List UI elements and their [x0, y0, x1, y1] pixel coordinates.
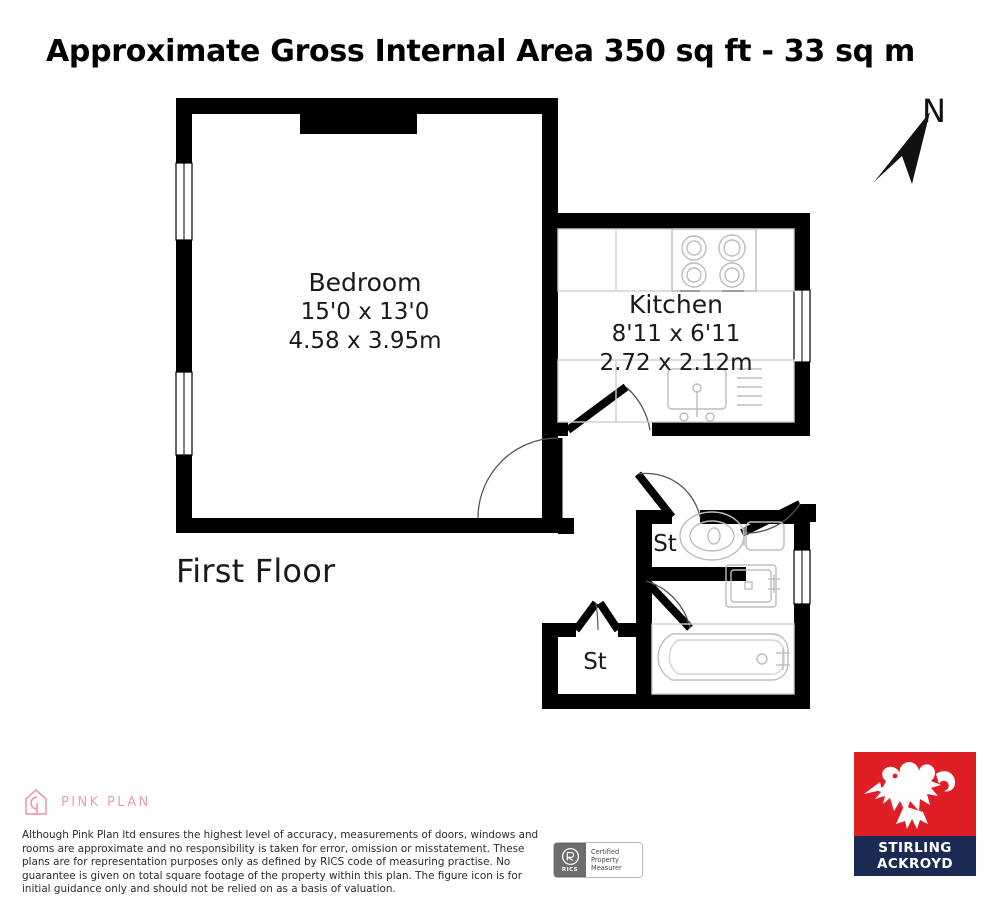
wall-nub-bedroom-se: [558, 518, 574, 534]
wall-bedroom-alcove: [300, 98, 417, 134]
room-name-kitchen: Kitchen: [562, 290, 790, 320]
wall-plan-bottom: [542, 694, 810, 709]
north-letter: N: [922, 92, 946, 130]
wall-right-a: [794, 213, 810, 290]
room-label-storage-lower: St: [567, 649, 623, 675]
room-dim-metric-bedroom: 4.58 x 3.95m: [197, 327, 533, 356]
disclaimer-text: Although Pink Plan ltd ensures the highe…: [22, 829, 542, 897]
wall-bedroom-left-b: [176, 240, 192, 372]
agent-name-line-1: STIRLING: [878, 840, 952, 856]
window-bedroom-left-lower: [176, 372, 192, 455]
rics-line-1: Certified: [591, 848, 642, 856]
door-st-lower: [576, 603, 618, 630]
agent-logo-bottom-panel: STIRLING ACKROYD: [854, 836, 976, 876]
window-bedroom-left-upper: [176, 163, 192, 240]
wall-right-b: [794, 362, 810, 429]
agent-name-line-2: ACKROYD: [877, 856, 953, 872]
window-kitchen-right: [794, 290, 810, 362]
griffin-icon: [858, 754, 972, 836]
rics-mark-text: RICS: [562, 867, 578, 873]
wall-bedroom-top-right: [417, 98, 558, 114]
wall-bedroom-bottom: [176, 518, 566, 533]
room-label-storage-upper: St: [637, 531, 693, 557]
walls-group: [176, 98, 816, 709]
north-indicator: N: [872, 96, 978, 196]
wall-st-upper-bottom: [636, 567, 746, 581]
floor-name-label: First Floor: [176, 552, 335, 590]
rics-seal-icon: [561, 847, 580, 866]
floorplan-page: Approximate Gross Internal Area 350 sq f…: [0, 0, 993, 900]
kitchen-worktop-top: [558, 229, 794, 291]
room-dim-metric-kitchen: 2.72 x 2.12m: [562, 349, 790, 378]
agent-logo: STIRLING ACKROYD: [854, 752, 976, 876]
hob-icon: [672, 229, 756, 291]
pink-plan-house-icon: [22, 787, 50, 817]
room-dim-imperial-kitchen: 8'11 x 6'11: [562, 320, 790, 349]
wall-kitchen-bottom-right: [652, 422, 810, 436]
room-label-bedroom: Bedroom 15'0 x 13'0 4.58 x 3.95m: [197, 268, 533, 356]
room-name-bedroom: Bedroom: [197, 268, 533, 298]
wall-right-d: [794, 604, 810, 709]
wall-bedroom-top-left: [176, 98, 300, 114]
wall-bedroom-right-upper: [542, 98, 558, 224]
wall-st-lower-top-right: [618, 623, 652, 637]
wall-bedroom-left-a: [176, 98, 192, 163]
rics-certification-badge: RICS Certified Property Measurer: [553, 842, 643, 878]
page-title: Approximate Gross Internal Area 350 sq f…: [46, 34, 966, 69]
wall-kitchen-bottom-left: [542, 422, 568, 436]
floorplan-drawing: [0, 70, 993, 730]
pink-plan-logo: PINK PLAN: [22, 787, 151, 817]
room-dim-imperial-bedroom: 15'0 x 13'0: [197, 298, 533, 327]
bathtub-icon: [652, 624, 794, 694]
rics-badge-text: Certified Property Measurer: [586, 843, 642, 877]
wall-kitchen-top: [542, 213, 810, 229]
rics-line-2: Property: [591, 856, 642, 864]
rics-line-3: Measurer: [591, 864, 642, 872]
door-bathroom: [646, 581, 690, 628]
room-label-kitchen: Kitchen 8'11 x 6'11 2.72 x 2.12m: [562, 290, 790, 378]
rics-logo-mark: RICS: [554, 843, 586, 877]
pink-plan-name: PINK PLAN: [61, 795, 151, 810]
window-bathroom-right: [794, 550, 810, 604]
door-kitchen: [568, 387, 650, 430]
